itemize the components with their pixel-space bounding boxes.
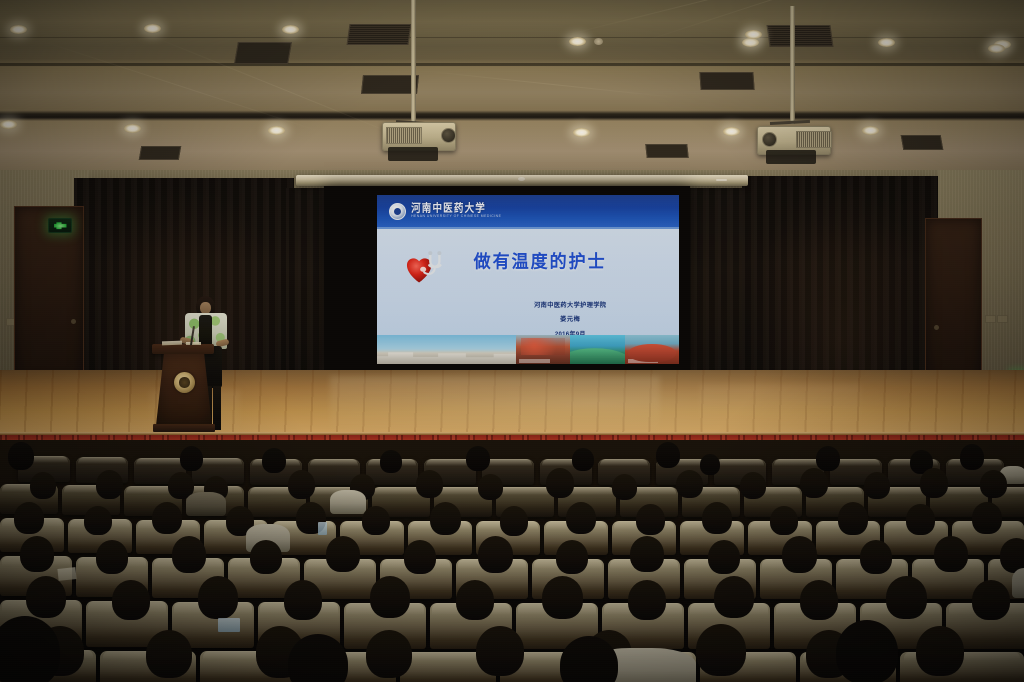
stage-door-right[interactable]	[925, 218, 982, 388]
audience-head	[708, 540, 740, 574]
audience-head	[696, 624, 746, 676]
campus-building-photo	[377, 335, 516, 364]
podium-notes	[162, 341, 182, 346]
exit-sign-left	[48, 218, 72, 233]
wall-outlet	[997, 315, 1008, 323]
ceiling-downlight	[862, 126, 879, 135]
podium-base	[153, 424, 215, 432]
ceiling-downlight	[745, 30, 762, 39]
audience-head	[476, 626, 524, 676]
audience-head	[416, 470, 443, 498]
audience-head	[864, 472, 890, 499]
campus-flowers-photo	[516, 335, 570, 364]
audience-head	[146, 630, 192, 678]
audience-head	[836, 620, 898, 682]
slide-presenter-name: 娄元梅	[480, 314, 661, 323]
stage-curtain-right	[742, 176, 938, 392]
ceiling-downlight	[268, 126, 285, 135]
audience-head	[934, 536, 968, 572]
audience-head	[262, 448, 286, 473]
audience-head	[960, 444, 984, 470]
slide-header-band: 河南中医药大学 HENAN UNIVERSITY OF CHINESE MEDI…	[377, 195, 679, 227]
audience-head	[466, 446, 490, 471]
audience-head	[676, 470, 703, 498]
screen-valance-bar	[296, 175, 748, 186]
audience-head	[152, 502, 182, 534]
audience-head	[838, 502, 868, 535]
projector-grille	[386, 127, 422, 144]
audience-handout	[57, 567, 76, 581]
audience-head	[180, 446, 203, 471]
audience-head	[326, 536, 360, 572]
audience-head	[478, 536, 513, 573]
audience-head	[288, 470, 315, 499]
audience-head	[430, 502, 461, 535]
audience-shoulders	[186, 492, 226, 516]
audience-head	[26, 576, 66, 618]
audience-head	[478, 474, 503, 500]
slide-organization: 河南中医药大学护理学院	[480, 300, 661, 309]
audience-head	[702, 502, 732, 534]
ceiling-downlight	[144, 24, 161, 33]
audience-head	[920, 468, 948, 498]
audience-head	[714, 576, 754, 618]
audience-head	[546, 468, 574, 498]
presentation-slide: 河南中医药大学 HENAN UNIVERSITY OF CHINESE MEDI…	[377, 195, 679, 364]
projector-lens-icon	[441, 128, 456, 143]
podium-notes	[186, 342, 201, 345]
audience-head	[628, 580, 666, 620]
podium-desktop	[152, 344, 214, 354]
smoke-detector-icon	[594, 38, 603, 45]
audience-head	[800, 468, 828, 498]
slide-title: 做有温度的护士	[474, 247, 661, 273]
audience-head	[96, 540, 128, 574]
audience-head	[770, 506, 798, 535]
ceiling-downlight	[569, 37, 586, 46]
auditorium-photo: 河南中医药大学 HENAN UNIVERSITY OF CHINESE MEDI…	[0, 0, 1024, 682]
audience-head	[800, 580, 838, 620]
audience-head	[370, 576, 410, 618]
projector-mount-pole	[790, 6, 795, 124]
ceiling-downlight	[124, 124, 141, 133]
audience-head	[556, 540, 588, 574]
projection-screen: 河南中医药大学 HENAN UNIVERSITY OF CHINESE MEDI…	[324, 186, 690, 370]
ceiling-downlight	[0, 120, 17, 129]
projector-grille	[796, 131, 832, 148]
audience-head	[362, 506, 390, 535]
audience-head	[700, 454, 720, 475]
audience-shoulders	[330, 490, 366, 514]
audience-head	[456, 580, 494, 620]
heart-with-stethoscope-icon	[395, 246, 455, 297]
projector-shadow	[766, 150, 816, 164]
ceiling-downlight	[282, 25, 299, 34]
audience-head	[740, 472, 766, 499]
hvac-vent	[347, 24, 412, 45]
projector-shadow	[388, 147, 438, 161]
audience-head	[250, 540, 282, 574]
audience-head	[112, 580, 150, 620]
audience-head	[84, 506, 112, 535]
audience-head	[906, 504, 935, 535]
projector-lens-icon	[762, 132, 777, 147]
ceiling-downlight	[10, 25, 27, 34]
ceiling-downlight	[988, 44, 1005, 53]
audience-seating	[0, 440, 1024, 682]
audience-head	[816, 446, 840, 471]
audience-head	[14, 502, 44, 534]
audience-head	[366, 630, 412, 678]
audience-shoulders	[1012, 568, 1024, 598]
ceiling-downlight	[742, 38, 759, 47]
audience-head	[404, 540, 436, 574]
ceiling-downlight	[573, 128, 590, 137]
university-seal-emblem	[174, 372, 195, 393]
audience-head	[972, 502, 1002, 534]
audience-head	[380, 450, 402, 473]
audience-phone	[318, 522, 327, 535]
audience-head	[572, 448, 594, 471]
wall-outlet	[985, 315, 996, 323]
audience-head	[96, 470, 123, 499]
campus-stadium-photo	[625, 335, 679, 364]
audience-head	[20, 536, 54, 572]
university-name-en: HENAN UNIVERSITY OF CHINESE MEDICINE	[411, 215, 501, 218]
audience-head	[8, 442, 34, 470]
audience-head	[566, 502, 596, 534]
audience-head	[198, 576, 238, 619]
hvac-vent	[234, 42, 292, 64]
audience-head	[500, 506, 528, 536]
audience-head	[656, 442, 680, 468]
audience-head	[542, 576, 583, 619]
audience-head	[972, 580, 1010, 620]
audience-head	[30, 472, 56, 499]
exit-running-man-icon	[54, 222, 67, 230]
slide-photo-strip	[377, 335, 679, 364]
hvac-vent	[645, 144, 688, 158]
hvac-vent	[901, 135, 944, 150]
audience-head	[630, 536, 664, 572]
audience-tablet	[218, 618, 240, 632]
audience-head	[284, 580, 322, 620]
audience-head	[172, 536, 206, 573]
audience-head	[612, 474, 637, 500]
ceiling-downlight	[723, 127, 740, 136]
hvac-vent	[139, 146, 181, 160]
projector-mount-pole	[411, 0, 416, 122]
audience-head	[980, 470, 1007, 498]
ceiling-downlight	[878, 38, 895, 47]
university-name-cn: 河南中医药大学	[411, 203, 501, 214]
audience-head	[636, 504, 665, 535]
audience-head	[886, 576, 927, 619]
audience-head	[782, 536, 817, 573]
audience-head	[916, 626, 964, 676]
hvac-vent	[766, 25, 833, 47]
hvac-vent	[699, 72, 754, 90]
ceiling	[0, 0, 1024, 178]
slide-header-underline	[377, 227, 679, 229]
audience-head	[860, 540, 892, 574]
campus-green-roof-photo	[570, 335, 624, 364]
university-seal-logo	[389, 203, 406, 220]
